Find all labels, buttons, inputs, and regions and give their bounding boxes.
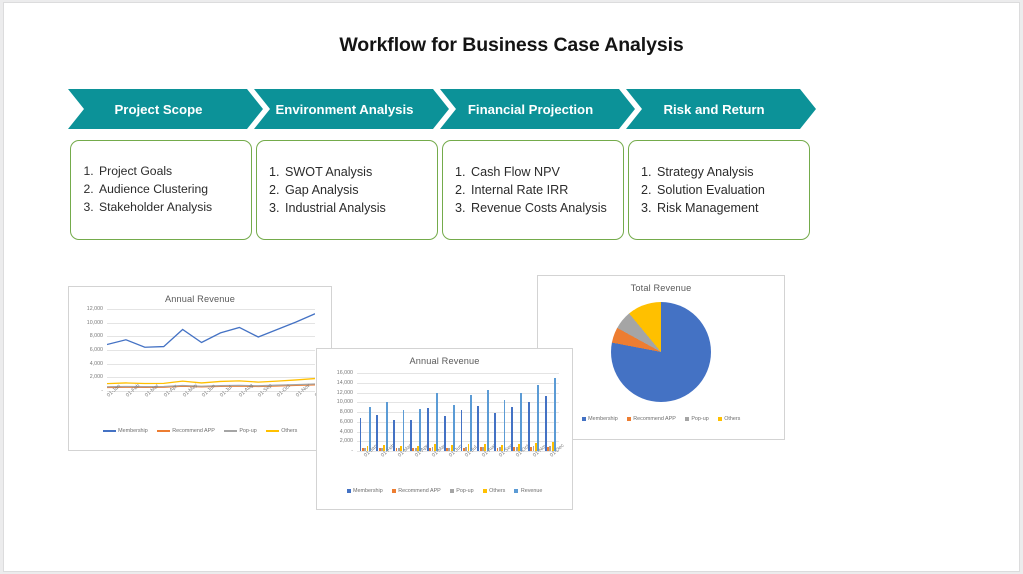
bar: [545, 396, 547, 451]
gridline: [357, 393, 559, 394]
legend-label: Membership: [588, 416, 618, 422]
legend-item[interactable]: Pop-up: [685, 416, 709, 422]
chart-legend[interactable]: MembershipRecommend APPPop-upOthers: [538, 416, 784, 422]
slide-canvas: Workflow for Business Case Analysis Proj…: [4, 3, 1019, 571]
legend-item[interactable]: Recommend APP: [392, 488, 441, 494]
y-axis-tick: 12,000: [87, 306, 103, 312]
bar: [470, 395, 472, 451]
gridline: [357, 373, 559, 374]
chart-legend[interactable]: MembershipRecommend APPPop-upOthers: [69, 428, 331, 434]
legend-swatch: [224, 430, 237, 432]
workflow-step-chevron-1[interactable]: Project Scope: [68, 89, 263, 129]
legend-swatch: [266, 430, 279, 432]
workflow-detail-list-2: SWOT Analysis Gap Analysis Industrial An…: [257, 163, 386, 218]
pie-chart-total-revenue[interactable]: Total Revenue MembershipRecommend APPPop…: [538, 276, 784, 439]
legend-item[interactable]: Recommend APP: [627, 416, 676, 422]
list-item: Project Goals: [97, 163, 212, 181]
legend-label: Others: [724, 416, 740, 422]
workflow-detail-list-1: Project Goals Audience Clustering Stakeh…: [71, 163, 212, 216]
line-series: [107, 314, 315, 347]
legend-item[interactable]: Membership: [103, 428, 148, 434]
list-item: Strategy Analysis: [655, 163, 765, 181]
list-item: Cash Flow NPV: [469, 163, 607, 181]
legend-swatch: [347, 489, 351, 493]
legend-label: Recommend APP: [633, 416, 676, 422]
line-series-group: [107, 309, 315, 391]
bar: [528, 402, 530, 451]
bar: [410, 420, 412, 451]
legend-item[interactable]: Membership: [347, 488, 383, 494]
legend-item[interactable]: Others: [266, 428, 298, 434]
bar: [403, 410, 405, 451]
gridline: [357, 383, 559, 384]
list-item: Solution Evaluation: [655, 181, 765, 199]
workflow-detail-box-4[interactable]: Strategy Analysis Solution Evaluation Ri…: [628, 140, 810, 240]
y-axis-tick: 2,000: [340, 438, 353, 444]
legend-item[interactable]: Others: [718, 416, 741, 422]
workflow-detail-box-3[interactable]: Cash Flow NPV Internal Rate IRR Revenue …: [442, 140, 624, 240]
workflow-detail-box-1[interactable]: Project Goals Audience Clustering Stakeh…: [70, 140, 252, 240]
chart-legend[interactable]: MembershipRecommend APPPop-upOthersReven…: [317, 488, 572, 494]
legend-item[interactable]: Recommend APP: [157, 428, 215, 434]
y-axis-tick: -: [351, 448, 353, 454]
bar: [427, 408, 429, 451]
legend-item[interactable]: Pop-up: [224, 428, 257, 434]
list-item: Revenue Costs Analysis: [469, 199, 607, 217]
pie-slices: [611, 302, 711, 402]
chart-title: Annual Revenue: [69, 287, 331, 304]
bar: [360, 418, 362, 451]
list-item: Industrial Analysis: [283, 199, 386, 217]
bar: [511, 407, 513, 451]
chart-title: Total Revenue: [538, 276, 784, 293]
workflow-detail-list-4: Strategy Analysis Solution Evaluation Ri…: [629, 163, 765, 218]
legend-label: Others: [281, 428, 297, 434]
legend-label: Pop-up: [456, 488, 473, 494]
legend-swatch: [685, 417, 689, 421]
legend-item[interactable]: Revenue: [514, 488, 542, 494]
workflow-detail-box-2[interactable]: SWOT Analysis Gap Analysis Industrial An…: [256, 140, 438, 240]
bar: [487, 390, 489, 451]
plot-area: -2,0004,0006,0008,00010,00012,00014,0001…: [357, 373, 559, 451]
bar: [393, 420, 395, 451]
y-axis-tick: -: [101, 388, 103, 394]
y-axis-tick: 6,000: [340, 419, 353, 425]
legend-swatch: [514, 489, 518, 493]
legend-label: Others: [489, 488, 505, 494]
bar: [386, 402, 388, 451]
list-item: Stakeholder Analysis: [97, 199, 212, 217]
list-item: SWOT Analysis: [283, 163, 386, 181]
pie-graphic: [611, 302, 711, 402]
y-axis-tick: 4,000: [90, 361, 103, 367]
legend-label: Pop-up: [239, 428, 256, 434]
legend-item[interactable]: Others: [483, 488, 506, 494]
bar: [477, 406, 479, 451]
page-title: Workflow for Business Case Analysis: [4, 34, 1019, 57]
legend-item[interactable]: Pop-up: [450, 488, 474, 494]
bar: [436, 393, 438, 451]
y-axis-tick: 10,000: [87, 320, 103, 326]
legend-swatch: [103, 430, 116, 432]
bar-chart-annual-revenue[interactable]: Annual Revenue -2,0004,0006,0008,00010,0…: [317, 349, 572, 509]
bar: [520, 393, 522, 451]
legend-swatch: [718, 417, 722, 421]
legend-swatch: [483, 489, 487, 493]
list-item: Gap Analysis: [283, 181, 386, 199]
bar: [537, 385, 539, 451]
y-axis-tick: 6,000: [90, 347, 103, 353]
legend-swatch: [450, 489, 454, 493]
y-axis-tick: 16,000: [337, 370, 353, 376]
line-chart-annual-revenue[interactable]: Annual Revenue -2,0004,0006,0008,00010,0…: [69, 287, 331, 450]
bar: [369, 407, 371, 451]
line-series: [107, 379, 315, 384]
y-axis-tick: 2,000: [90, 374, 103, 380]
legend-label: Pop-up: [691, 416, 708, 422]
legend-label: Revenue: [521, 488, 543, 494]
workflow-chevron-row: Project Scope Environment Analysis Finan…: [68, 89, 816, 129]
bar: [461, 410, 463, 451]
legend-item[interactable]: Membership: [582, 416, 618, 422]
legend-swatch: [157, 430, 170, 432]
legend-swatch: [392, 489, 396, 493]
bar: [419, 409, 421, 451]
bar: [444, 416, 446, 451]
y-axis-tick: 8,000: [90, 333, 103, 339]
legend-swatch: [582, 417, 586, 421]
bar: [376, 415, 378, 451]
legend-swatch: [627, 417, 631, 421]
y-axis-tick: 12,000: [337, 390, 353, 396]
workflow-step-chevron-3[interactable]: Financial Projection: [440, 89, 635, 129]
legend-label: Membership: [353, 488, 383, 494]
chart-title: Annual Revenue: [317, 349, 572, 366]
y-axis-tick: 14,000: [337, 380, 353, 386]
y-axis-tick: 10,000: [337, 399, 353, 405]
legend-label: Membership: [118, 428, 148, 434]
legend-label: Recommend APP: [172, 428, 215, 434]
workflow-step-chevron-2[interactable]: Environment Analysis: [254, 89, 449, 129]
bar: [494, 413, 496, 451]
workflow-detail-list-3: Cash Flow NPV Internal Rate IRR Revenue …: [443, 163, 607, 218]
bar: [504, 400, 506, 451]
list-item: Internal Rate IRR: [469, 181, 607, 199]
y-axis-tick: 4,000: [340, 429, 353, 435]
y-axis-tick: 8,000: [340, 409, 353, 415]
workflow-detail-row: Project Goals Audience Clustering Stakeh…: [70, 140, 818, 240]
list-item: Audience Clustering: [97, 181, 212, 199]
legend-label: Recommend APP: [398, 488, 441, 494]
bar: [453, 405, 455, 451]
bar: [554, 378, 556, 451]
workflow-step-chevron-4[interactable]: Risk and Return: [626, 89, 816, 129]
plot-area: -2,0004,0006,0008,00010,00012,00001-Jan0…: [107, 309, 315, 391]
list-item: Risk Management: [655, 199, 765, 217]
